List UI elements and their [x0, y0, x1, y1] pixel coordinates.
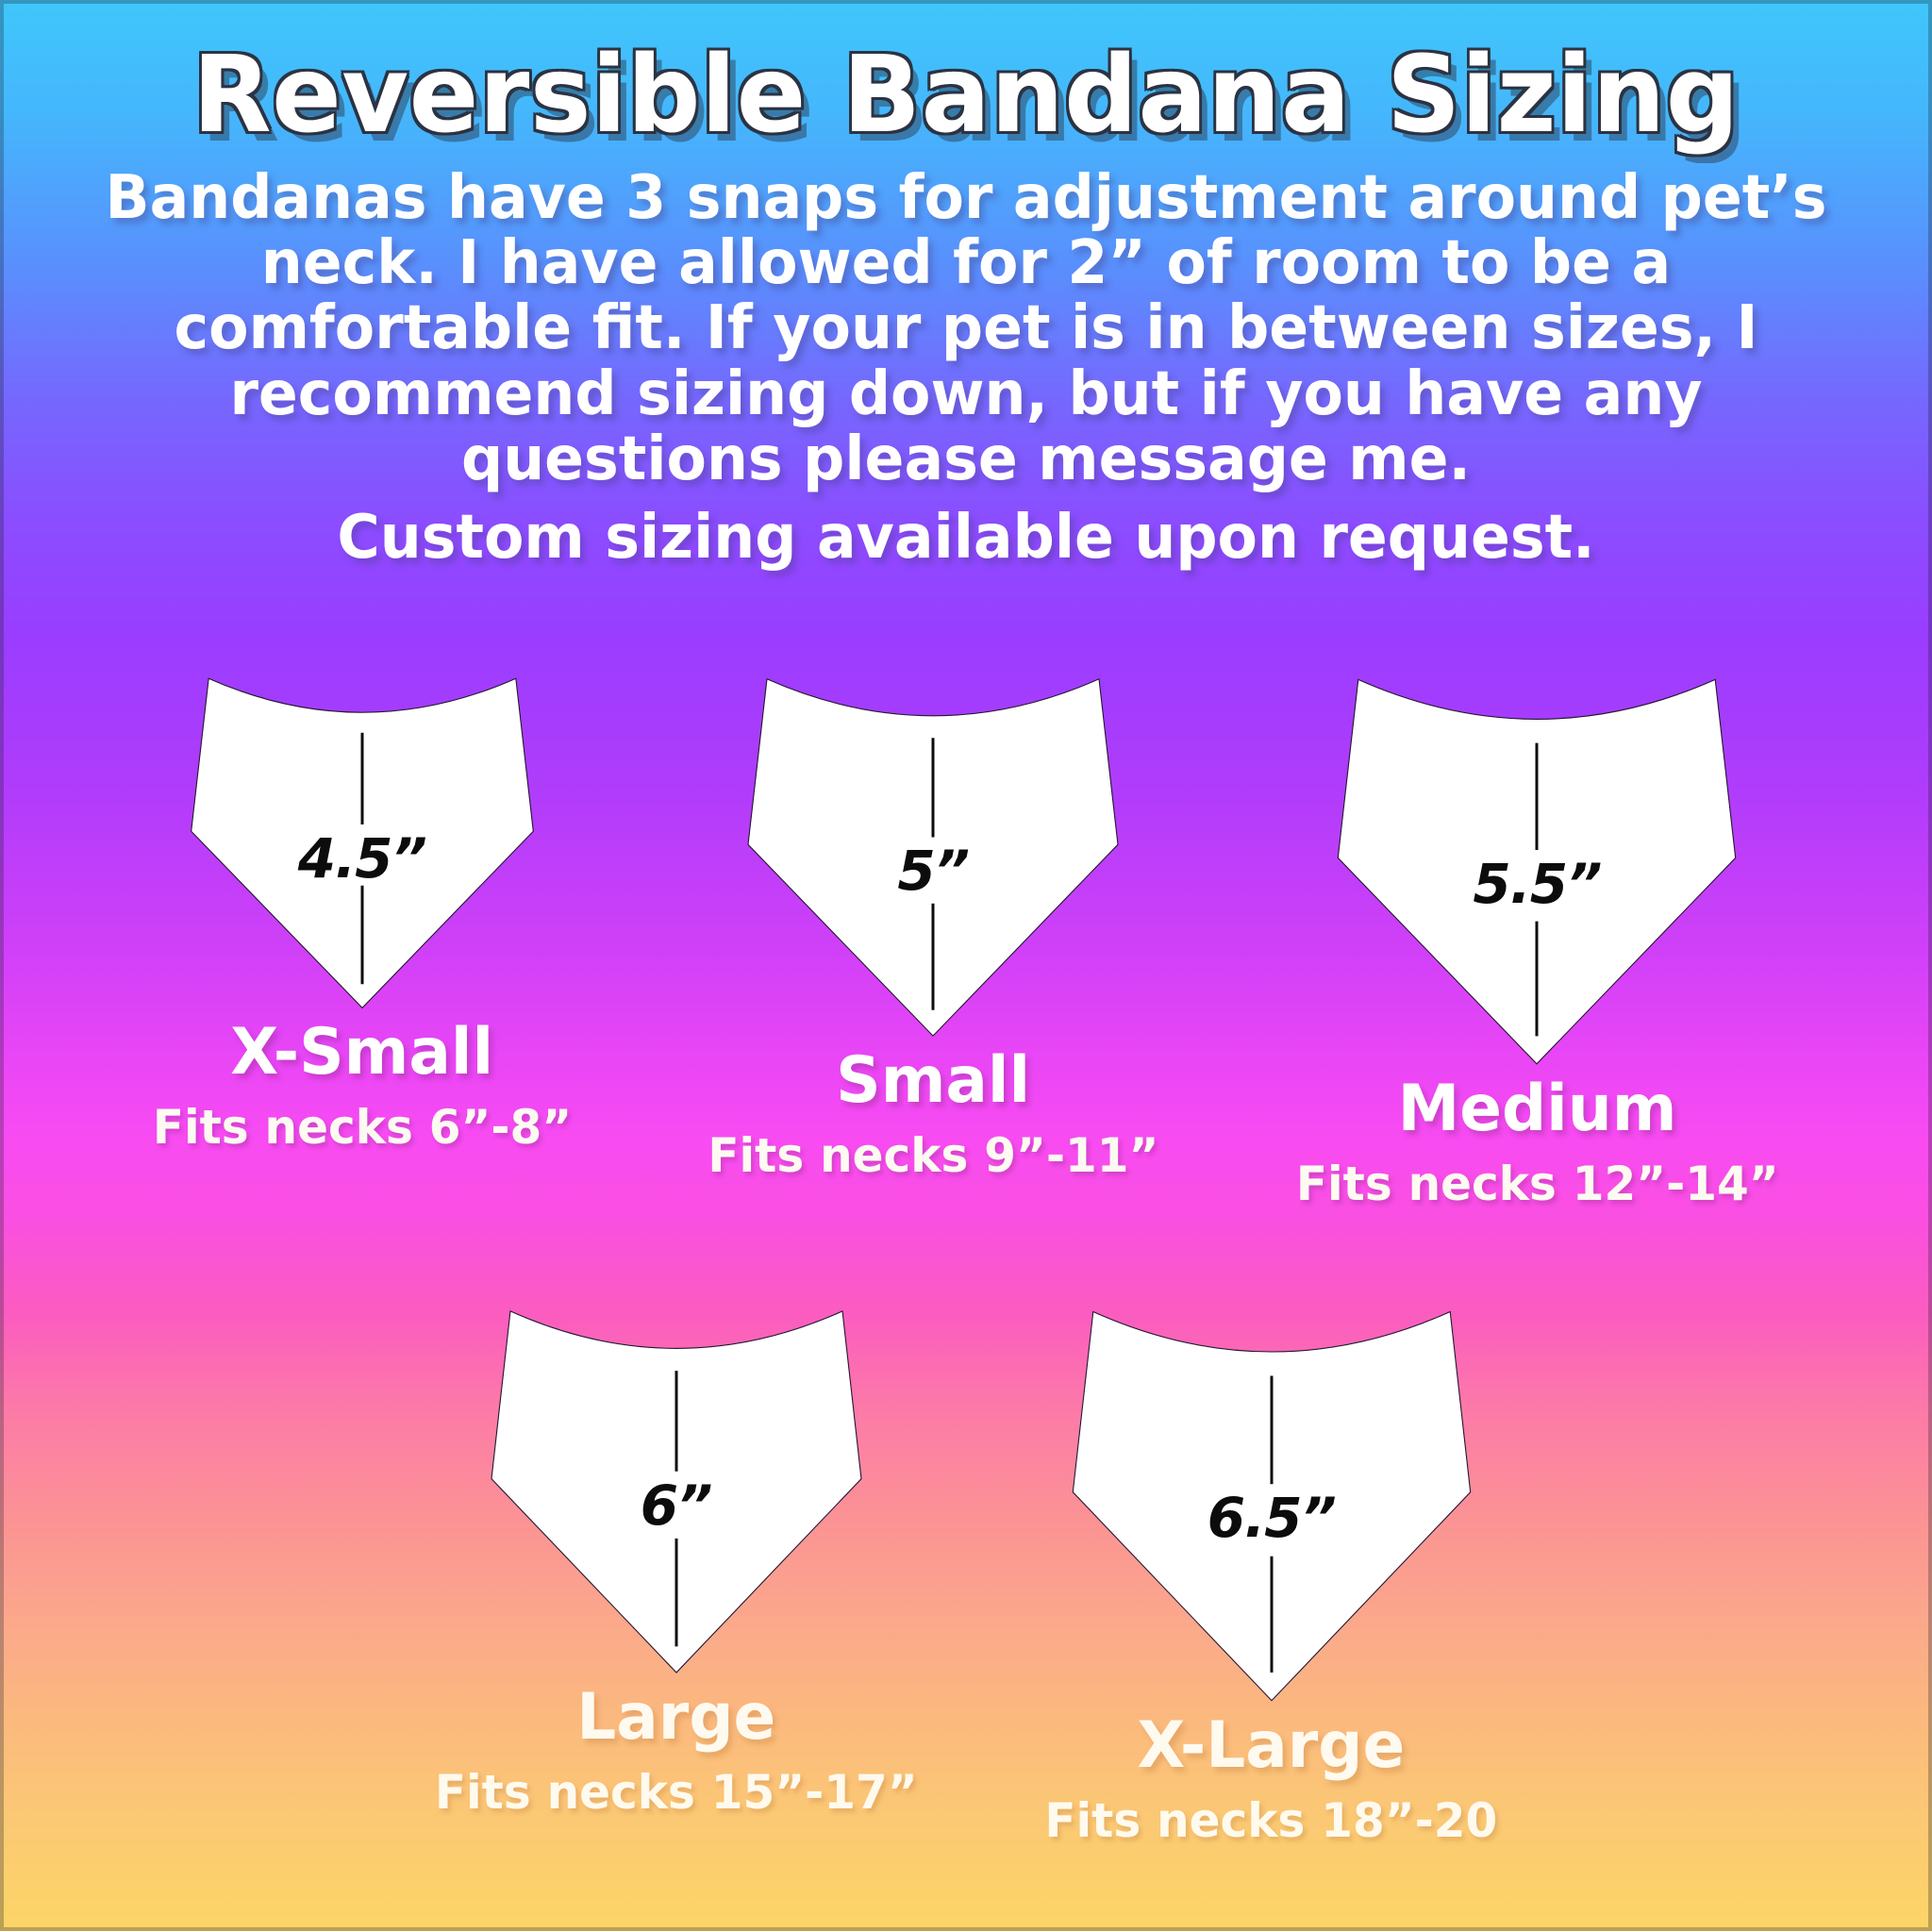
bandana-size-card: 6.5”X-LargeFits necks 18”-20: [1038, 1304, 1505, 1844]
description-custom-sizing: Custom sizing available upon request.: [65, 506, 1868, 571]
size-name-label: Medium: [1397, 1077, 1676, 1141]
bandana-shape-wrap: 6.5”: [1069, 1304, 1474, 1705]
size-name-label: Large: [576, 1686, 775, 1750]
fits-necks-label: Fits necks 6”-8”: [153, 1104, 572, 1151]
size-name-label: X-Small: [230, 1021, 493, 1085]
measurement-label: 5”: [897, 839, 969, 903]
bandana-size-card: 5”SmallFits necks 9”-11”: [701, 672, 1166, 1207]
measurement-label: 4.5”: [298, 826, 426, 891]
bandana-shape-wrap: 5”: [744, 672, 1122, 1040]
size-row-bottom: 6”LargeFits necks 15”-17”6.5”X-LargeFits…: [0, 1304, 1932, 1844]
bandana-sizing-infographic: Reversible Bandana Sizing Bandanas have …: [0, 0, 1932, 1931]
bandana-size-card: 5.5”MediumFits necks 12”-14”: [1289, 672, 1787, 1207]
fits-necks-label: Fits necks 15”-17”: [435, 1769, 918, 1816]
bandana-shape-wrap: 5.5”: [1334, 672, 1740, 1068]
bandana-size-card: 6”LargeFits necks 15”-17”: [427, 1304, 925, 1844]
bandana-shape-wrap: 4.5”: [188, 672, 537, 1011]
header: Reversible Bandana Sizing Bandanas have …: [0, 0, 1932, 571]
fits-necks-label: Fits necks 9”-11”: [708, 1132, 1158, 1179]
fits-necks-label: Fits necks 18”-20: [1045, 1797, 1498, 1844]
size-name-label: X-Large: [1138, 1714, 1406, 1778]
bandana-shape-wrap: 6”: [488, 1304, 865, 1676]
bandana-size-card: 4.5”X-SmallFits necks 6”-8”: [146, 672, 578, 1207]
page-title: Reversible Bandana Sizing: [29, 0, 1904, 149]
fits-necks-label: Fits necks 12”-14”: [1296, 1160, 1779, 1207]
description-main: Bandanas have 3 snaps for adjustment aro…: [106, 163, 1827, 493]
measurement-label: 5.5”: [1473, 852, 1601, 916]
size-name-label: Small: [836, 1049, 1030, 1113]
measurement-label: 6”: [641, 1473, 712, 1538]
size-row-top: 4.5”X-SmallFits necks 6”-8”5”SmallFits n…: [0, 672, 1932, 1207]
measurement-label: 6.5”: [1207, 1486, 1336, 1550]
description-text: Bandanas have 3 snaps for adjustment aro…: [65, 149, 1868, 571]
